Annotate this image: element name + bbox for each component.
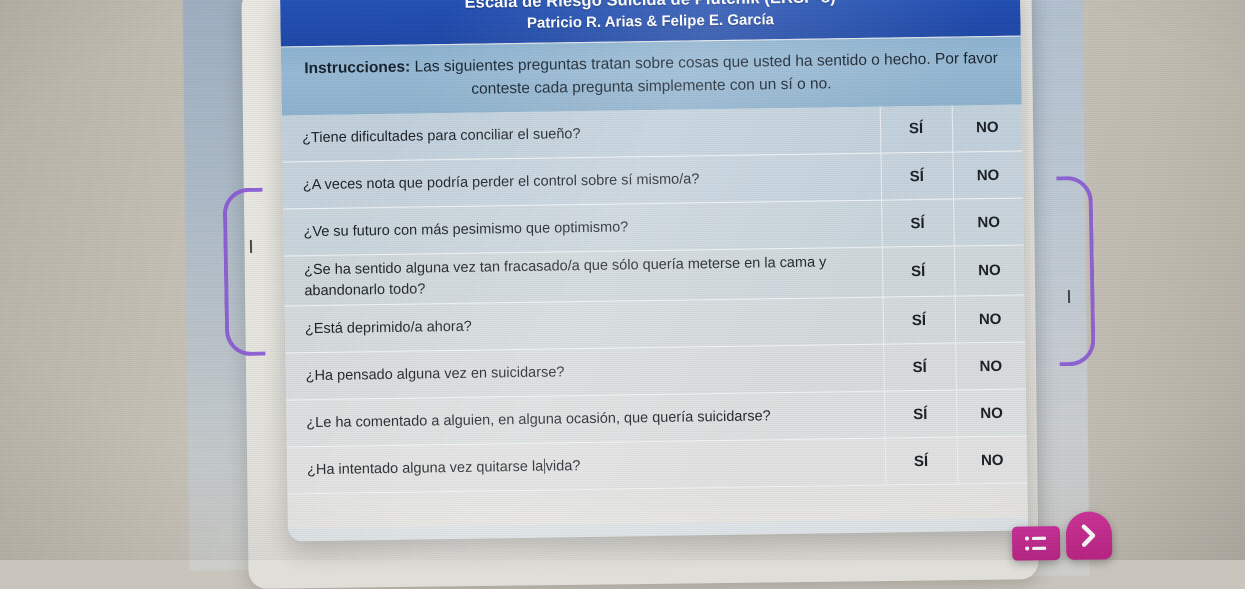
answer-yes-7[interactable]: SÍ (884, 390, 957, 438)
answer-no-3[interactable]: NO (953, 198, 1024, 246)
instructions-text: Las siguientes preguntas tratan sobre co… (410, 50, 998, 98)
answer-no-7[interactable]: NO (956, 389, 1027, 437)
next-button[interactable] (1066, 511, 1113, 560)
quiz-card: Escala de Riesgo Suicida de Plutchik (ER… (280, 0, 1028, 541)
stray-caret-left (250, 240, 252, 253)
answer-yes-1[interactable]: SÍ (880, 105, 953, 153)
answer-no-4[interactable]: NO (954, 245, 1025, 296)
answer-yes-6[interactable]: SÍ (883, 343, 956, 391)
answer-yes-2[interactable]: SÍ (880, 152, 953, 200)
chevron-right-icon (1078, 522, 1100, 548)
answer-no-2[interactable]: NO (952, 151, 1023, 199)
floating-action-group (1012, 511, 1113, 560)
question-text-8-after-caret: vida? (546, 458, 581, 475)
question-table-body: ¿Tiene dificultades para conciliar el su… (282, 104, 1028, 494)
answer-yes-5[interactable]: SÍ (883, 296, 956, 344)
answer-no-8[interactable]: NO (957, 436, 1028, 484)
answer-no-6[interactable]: NO (955, 342, 1026, 390)
question-text-8-before-caret: ¿Ha intentado alguna vez quitarse la (307, 459, 543, 479)
answer-yes-8[interactable]: SÍ (885, 437, 958, 485)
question-table: ¿Tiene dificultades para conciliar el su… (282, 104, 1028, 495)
answer-no-1[interactable]: NO (952, 104, 1023, 152)
question-text-4: ¿Se ha sentido alguna vez tan fracasado/… (284, 247, 883, 306)
instructions-band: Instrucciones: Las siguientes preguntas … (281, 36, 1022, 115)
bracket-right-decoration (1056, 176, 1095, 367)
answer-yes-3[interactable]: SÍ (881, 199, 954, 247)
answer-yes-4[interactable]: SÍ (882, 246, 955, 297)
list-icon (1023, 534, 1049, 552)
instructions-label: Instrucciones: (304, 59, 410, 78)
question-text-8: ¿Ha intentado alguna vez quitarse lavida… (287, 438, 886, 494)
answer-no-5[interactable]: NO (955, 295, 1026, 343)
list-button[interactable] (1012, 526, 1060, 561)
stray-caret-right (1068, 290, 1070, 303)
bracket-left-decoration (223, 188, 266, 357)
